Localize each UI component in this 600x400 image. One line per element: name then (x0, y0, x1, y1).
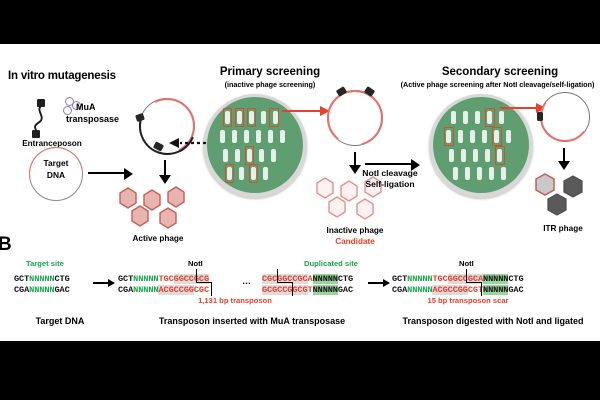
sequence-run: TGC (432, 274, 447, 284)
target-dna-label-line1: Target (29, 158, 83, 168)
picked-colony-box (249, 164, 258, 183)
itr-phage-label: ITR phage (516, 224, 600, 233)
target-site-label: Target site (26, 259, 64, 268)
sequence-run: CTG (338, 274, 353, 284)
sequence-run: NNNNN (29, 274, 54, 284)
plasmid-itr-red-arc (537, 89, 593, 145)
arrow-noti-cleavage (365, 163, 413, 165)
arrow-dotted-plate-to-plasmid (168, 136, 208, 150)
primary-screening-subtitle: (inactive phage screening) (185, 80, 355, 89)
sequence-run: GAC (54, 285, 69, 295)
cut-connector-right (277, 282, 293, 283)
sequence-ellipsis: … (242, 276, 251, 286)
arrow-mutagenesis (88, 172, 126, 174)
sequence-run: GCT (14, 274, 29, 284)
active-phage-label: Active phage (106, 234, 210, 243)
noti-label-right: NotI (459, 259, 474, 268)
sequence-run: CGA (118, 285, 133, 295)
noti-cut-line-left (196, 269, 197, 283)
figure-canvas: In vitro mutagenesis Entranceposon MuA t… (0, 44, 600, 341)
arrow-mutagenesis-head (124, 168, 133, 180)
sequence-run: NNNNN (483, 274, 508, 284)
noti-cleavage-label-line1: NotI cleavage (355, 168, 425, 178)
plasmid-inserted-black-arc (130, 89, 204, 163)
candidate-label: Candidate (303, 237, 407, 246)
plasmid-candidate-red-arc-right (317, 80, 393, 156)
sequence-run: GCGCCGGCG (262, 285, 308, 295)
sequence-run: NNNNN (133, 274, 158, 284)
sequence-inserted-right-top: CGCGGCCGCANNNNNCTG (262, 274, 353, 285)
panel-b-letter: B (0, 234, 12, 256)
secondary-screening-title: Secondary screening (420, 66, 580, 78)
sequence-run: ACGCCGG (158, 285, 193, 295)
sequence-run: NNNNN (313, 285, 338, 295)
sequence-run: NNNNN (313, 274, 338, 284)
sequence-target-top: GCTNNNNNCTG (14, 274, 70, 285)
plasmid-itr-scar-marker (537, 112, 543, 121)
noti-cut-line-right-lower (292, 282, 293, 296)
picked-colony-box (225, 164, 234, 183)
sequence-run: GAC (338, 285, 353, 295)
itr-phage-group (524, 170, 600, 222)
noti-cleavage-label-line2: Self-ligation (355, 179, 425, 189)
sequence-run: NNNNN (29, 285, 54, 295)
mua-label-line2: transposase (66, 114, 119, 124)
sequence-scar-top: GCTNNNNNTGCGGCCGCANNNNNCTG (392, 274, 524, 285)
panel-a-title: In vitro mutagenesis (8, 70, 116, 82)
sequence-run: ACGCCGG (432, 285, 467, 295)
sequence-run: NNNNN (483, 285, 508, 295)
sequence-run: CGC (194, 285, 209, 295)
noti-cut-line-scar-upper (466, 269, 467, 283)
sequence-inserted-right-bottom: GCGCCGGCGTNNNNNGAC (262, 285, 353, 296)
mua-label-line1: MuA (76, 102, 96, 112)
sequence-run: TGC (158, 274, 173, 284)
caption-transposon-digested: Transposon digested with NotI and ligate… (382, 316, 600, 326)
sequence-run: GAC (508, 285, 523, 295)
picked-colony-box (235, 108, 244, 127)
picked-colony-box (223, 108, 232, 127)
noti-cut-line-right-upper (277, 269, 278, 283)
picked-colony-box (485, 108, 495, 127)
noti-cut-line-scar-lower (481, 282, 482, 296)
sequence-run: A (308, 274, 313, 284)
noti-cut-line-left-lower (211, 282, 212, 296)
sequence-run: CTG (54, 274, 69, 284)
picked-colony-box (495, 146, 505, 165)
sequence-run: CGA (14, 285, 29, 295)
picked-colony-box (247, 108, 256, 127)
sequence-run: T (308, 285, 313, 295)
sequence-inserted-left-bottom: CGANNNNNACGCCGGCGC (118, 285, 209, 296)
cut-connector-left (196, 282, 212, 283)
arrow-b-1-head (108, 279, 115, 287)
scar-length-label: 15 bp transposon scar (398, 296, 538, 305)
picked-colony-box (245, 146, 254, 165)
duplicated-site-label: Duplicated site (304, 259, 358, 268)
arrow-down-active-phage-head (159, 175, 171, 184)
secondary-screening-subtitle: (Active phage screening after NotI cleav… (390, 80, 600, 89)
sequence-target-bottom: CGANNNNNGAC (14, 285, 70, 296)
cut-connector-scar (466, 282, 482, 283)
sequence-run: GCT (392, 274, 407, 284)
caption-transposon-inserted: Transposon inserted with MuA transposase (122, 316, 382, 326)
picked-colony-box (492, 127, 502, 146)
sequence-run: CGA (392, 285, 407, 295)
sequence-run: GCT (118, 274, 133, 284)
caption-target-dna: Target DNA (10, 316, 110, 326)
sequence-run: NNNNN (133, 285, 158, 295)
entranceposon-icon (28, 97, 58, 139)
picked-colony-box (444, 127, 454, 146)
picked-colony-box (269, 108, 279, 127)
sequence-scar-bottom: CGANNNNNACGCCGGCGTNNNNNGAC (392, 285, 524, 296)
primary-screening-title: Primary screening (195, 66, 345, 78)
sequence-run: NNNNN (407, 285, 432, 295)
target-dna-label-line2: DNA (29, 170, 83, 180)
sequence-run: NNNNN (407, 274, 432, 284)
inactive-phage-label: Inactive phage (303, 226, 407, 235)
active-phage-group (106, 184, 210, 234)
arrow-red-pick-candidate (282, 104, 332, 118)
arrow-b-2-head (383, 279, 390, 287)
transposon-length-label: 1,131 bp transposon (175, 296, 295, 305)
noti-label-left: NotI (188, 259, 203, 268)
sequence-run: CTG (508, 274, 523, 284)
arrow-down-itr-phage-head (558, 161, 570, 170)
